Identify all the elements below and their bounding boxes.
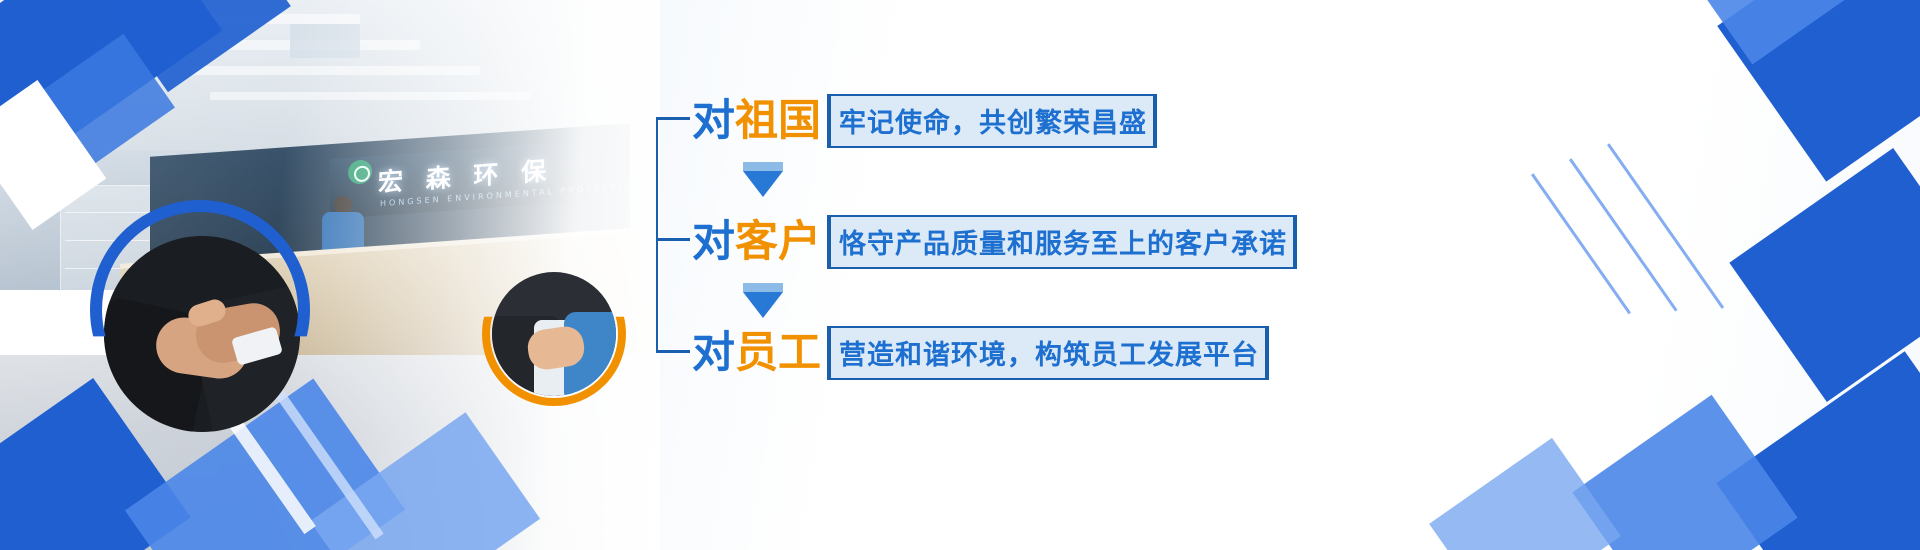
pledge-row-employee: 对员工 营造和谐环境，构筑员工发展平台 [692,326,1269,380]
down-arrow-1 [743,162,783,197]
row-lead-keyword: 祖国 [735,96,821,146]
pledge-tag-nation-text: 牢记使命，共创繁荣昌盛 [839,108,1147,139]
pledge-tag-employee: 营造和谐环境，构筑员工发展平台 [827,326,1269,380]
pledge-row-nation: 对祖国 牢记使命，共创繁荣昌盛 [692,94,1157,148]
row-lead-prefix: 对 [692,96,735,146]
row-lead-prefix: 对 [692,328,735,378]
pledge-row-customer: 对客户 恪守产品质量和服务至上的客户承诺 [692,215,1297,269]
pledge-tag-customer-text: 恪守产品质量和服务至上的客户承诺 [839,229,1287,260]
banner-root: 宏 森 环 保 HONGSEN ENVIRONMENTAL PROTECTION [0,0,1920,550]
pledge-tag-employee-text: 营造和谐环境，构筑员工发展平台 [839,340,1259,371]
row-lead-customer: 对客户 [692,221,821,264]
bracket-stub-3 [656,350,690,353]
row-lead-keyword: 客户 [735,217,821,267]
bracket-stub-1 [656,117,690,120]
row-lead-nation: 对祖国 [692,100,821,143]
row-lead-employee: 对员工 [692,332,821,375]
row-lead-prefix: 对 [692,217,735,267]
bracket-stub-2 [656,238,690,241]
row-lead-keyword: 员工 [735,328,821,378]
down-arrow-2 [743,283,783,318]
bracket-vertical-line [656,118,658,352]
pledge-tag-nation: 牢记使命，共创繁荣昌盛 [827,94,1157,148]
pledge-tag-customer: 恪守产品质量和服务至上的客户承诺 [827,215,1297,269]
